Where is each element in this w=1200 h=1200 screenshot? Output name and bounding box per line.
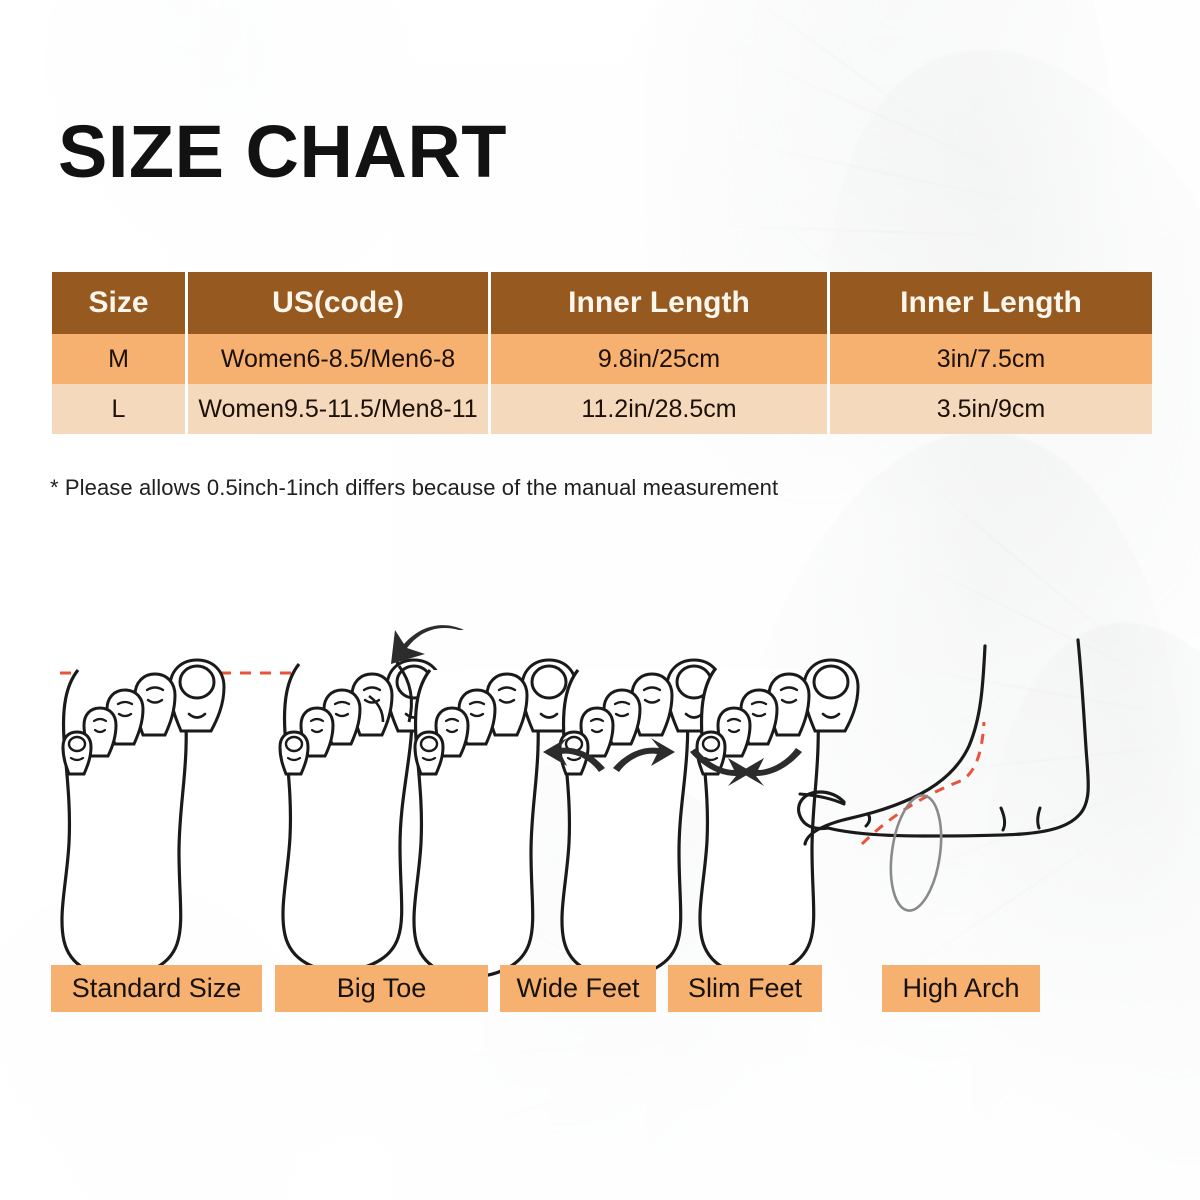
column-header-size: Size xyxy=(52,272,188,334)
table-row: M Women6-8.5/Men6-8 9.8in/25cm 3in/7.5cm xyxy=(52,334,1152,384)
cell-size-l: L xyxy=(52,384,188,434)
arch-ellipse xyxy=(884,792,948,914)
size-table-body: M Women6-8.5/Men6-8 9.8in/25cm 3in/7.5cm… xyxy=(52,334,1152,434)
cell-inner-width-l: 3.5in/9cm xyxy=(830,384,1152,434)
page-title: SIZE CHART xyxy=(58,113,507,191)
label-wide-feet: Wide Feet xyxy=(500,965,656,1012)
size-table: Size US(code) Inner Length Inner Length … xyxy=(52,272,1152,434)
foot-slim-feet-icon xyxy=(690,660,858,975)
table-row: L Women9.5-11.5/Men8-11 11.2in/28.5cm 3.… xyxy=(52,384,1152,434)
foot-illustrations-svg xyxy=(0,600,1200,980)
foot-standard-size-icon xyxy=(62,660,224,977)
foot-wide-feet-icon xyxy=(543,660,721,977)
cell-us-l: Women9.5-11.5/Men8-11 xyxy=(188,384,491,434)
label-high-arch: High Arch xyxy=(882,965,1040,1012)
column-header-inner-length-1: Inner Length xyxy=(491,272,830,334)
cell-inner-length-l: 11.2in/28.5cm xyxy=(491,384,830,434)
foot-plain-icon xyxy=(414,660,576,977)
cell-size-m: M xyxy=(52,334,188,384)
measurement-footnote: * Please allows 0.5inch-1inch differs be… xyxy=(50,475,778,501)
cell-inner-width-m: 3in/7.5cm xyxy=(830,334,1152,384)
column-header-us-code: US(code) xyxy=(188,272,491,334)
size-table-header: Size US(code) Inner Length Inner Length xyxy=(52,272,1152,334)
label-big-toe: Big Toe xyxy=(275,965,488,1012)
arch-dashed-curve xyxy=(862,722,984,844)
cell-inner-length-m: 9.8in/25cm xyxy=(491,334,830,384)
foot-type-diagram xyxy=(0,600,1200,980)
column-header-inner-length-2: Inner Length xyxy=(830,272,1152,334)
cell-us-m: Women6-8.5/Men6-8 xyxy=(188,334,491,384)
label-standard-size: Standard Size xyxy=(51,965,262,1012)
size-chart-page: SIZE CHART Size US(code) Inner Length In… xyxy=(0,0,1200,1200)
curved-arrow-icon xyxy=(391,625,464,664)
table-header-row: Size US(code) Inner Length Inner Length xyxy=(52,272,1152,334)
label-slim-feet: Slim Feet xyxy=(668,965,822,1012)
